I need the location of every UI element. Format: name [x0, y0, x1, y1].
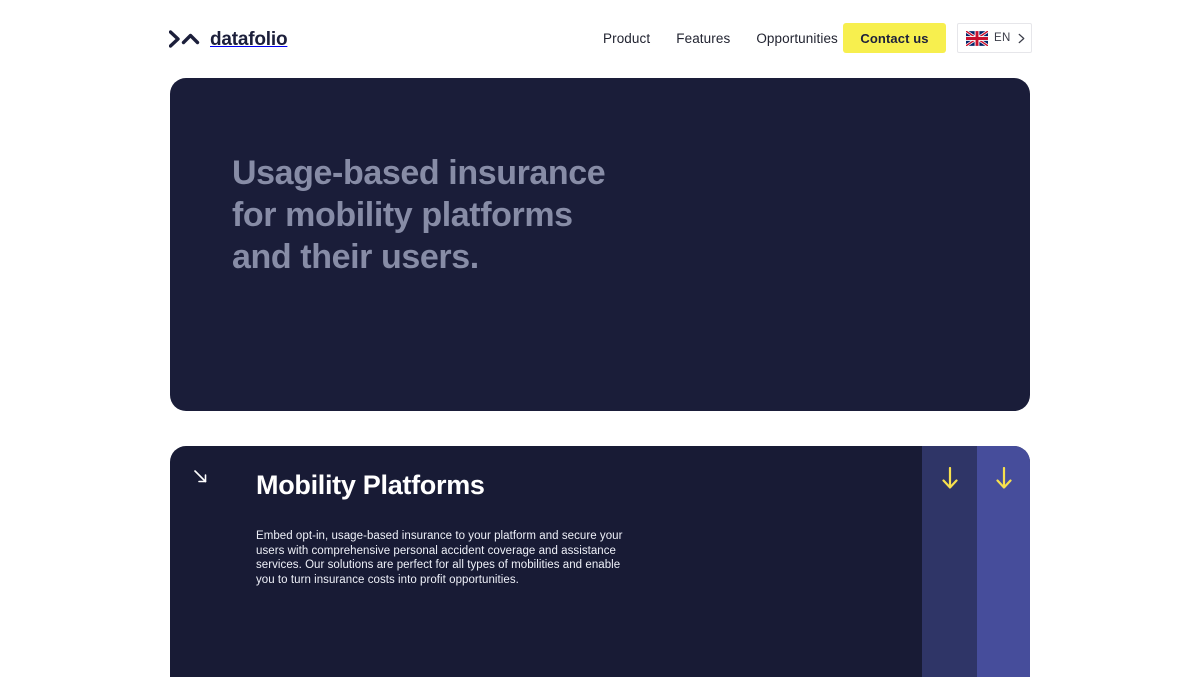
panel-mid[interactable] — [922, 446, 977, 677]
hero-card: Usage-based insurance for mobility platf… — [170, 78, 1030, 411]
page-root: datafolio Product Features Opportunities… — [0, 0, 1200, 677]
contact-us-button[interactable]: Contact us — [843, 23, 946, 53]
hero-heading: Usage-based insurance for mobility platf… — [232, 152, 605, 278]
brand-logo[interactable]: datafolio — [169, 26, 287, 52]
site-header: datafolio Product Features Opportunities… — [0, 0, 1200, 77]
language-code: EN — [994, 32, 1011, 44]
section-title: Mobility Platforms — [256, 468, 485, 503]
arrow-down-right-icon — [192, 468, 209, 485]
nav-link-product[interactable]: Product — [590, 22, 663, 55]
nav-link-opportunities[interactable]: Opportunities — [743, 22, 851, 55]
nav-link-features[interactable]: Features — [663, 22, 743, 55]
chevron-right-icon — [1017, 33, 1026, 44]
language-switcher[interactable]: EN — [957, 23, 1032, 53]
uk-flag-icon — [966, 31, 988, 46]
brand-name: datafolio — [210, 30, 287, 49]
panel-right[interactable] — [977, 446, 1030, 677]
chevron-right-up-mark-icon — [169, 30, 201, 48]
arrow-down-icon — [995, 467, 1013, 489]
main-nav: Product Features Opportunities — [590, 22, 851, 55]
arrow-down-icon — [941, 467, 959, 489]
section-body-text: Embed opt-in, usage-based insurance to y… — [256, 529, 626, 587]
mobility-platforms-section: Mobility Platforms Embed opt-in, usage-b… — [170, 446, 1030, 677]
